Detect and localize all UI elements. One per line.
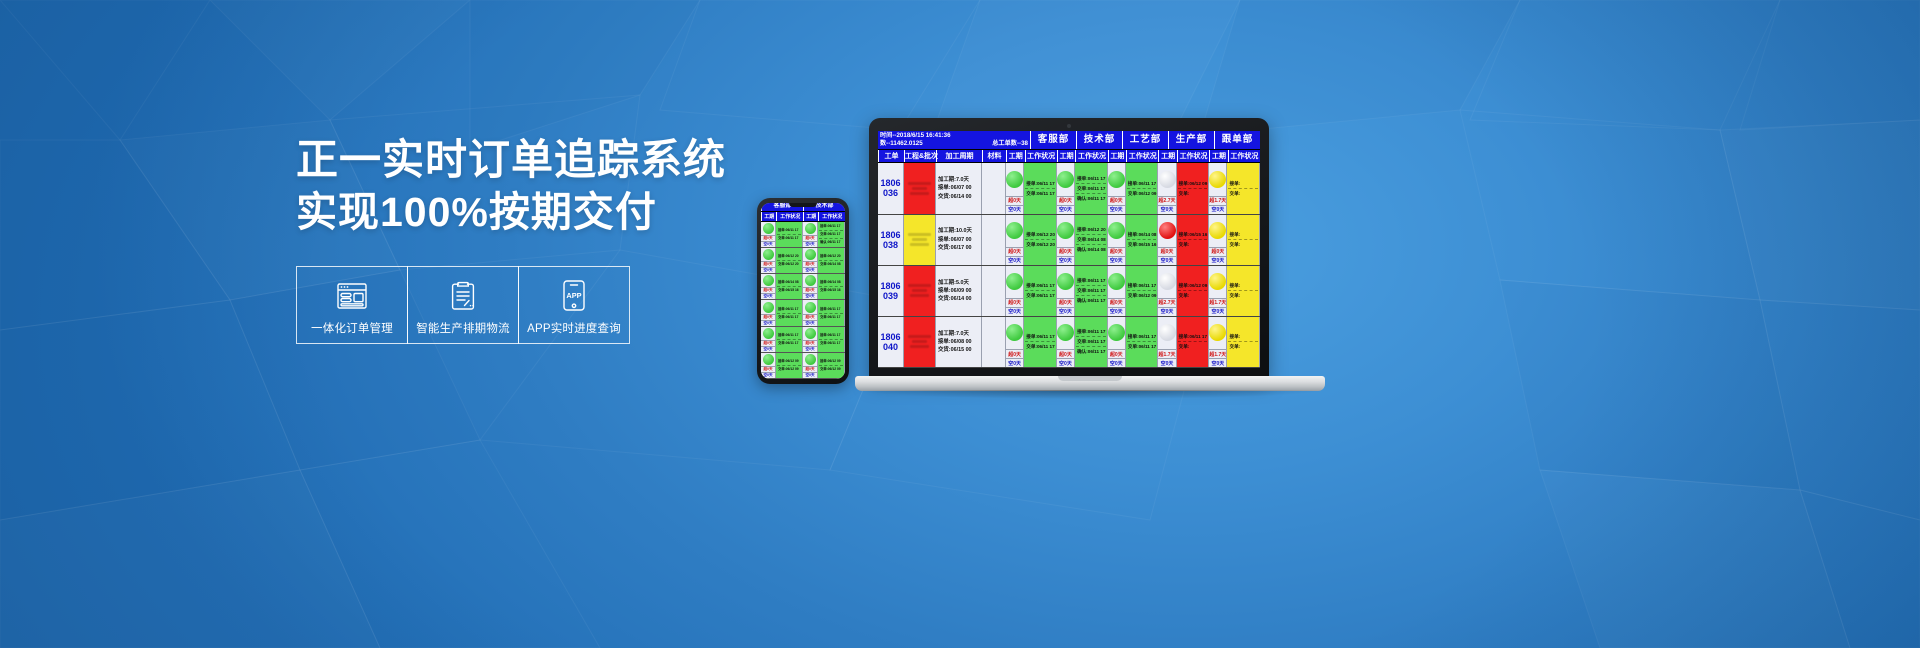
- blurred-text-bar: [912, 238, 927, 241]
- erp-status-line: 接单:06/12 20: [819, 253, 843, 261]
- status-indicator-wrap: [1006, 163, 1023, 195]
- erp-status-line: 接单:06/11 17: [1127, 179, 1157, 189]
- over-days-tag: 超0天: [1108, 298, 1125, 307]
- erp-dept-cell[interactable]: 超0天空0天接单:06/11 17交单:06/12 09: [1108, 266, 1159, 316]
- over-days-tag: 超0天: [1006, 247, 1023, 256]
- status-dot-green: [763, 354, 774, 365]
- erp-term-cell: 超0天空0天: [1108, 266, 1126, 316]
- blurred-text-bar: [912, 340, 927, 343]
- status-dot-green: [805, 223, 816, 234]
- erp-table-row[interactable]: 1806038加工期:10.0天接单:06/07 00交货:06/17 00超0…: [878, 215, 1260, 266]
- work-order-number: 036: [883, 188, 898, 198]
- erp-status-cell: 接单:06/11 17交单:06/11 17: [818, 327, 845, 352]
- erp-col-header: 加工周期: [936, 150, 982, 162]
- erp-status-line: 交单:: [1178, 240, 1208, 249]
- phone-erp-table-row[interactable]: 超0天空0天接单:06/12 20交单:06/12 20超0天空0天接单:06/…: [761, 248, 845, 274]
- over-days-tag: 超0天: [1108, 247, 1125, 256]
- erp-status-line: 确认:06/14 08: [1076, 245, 1106, 254]
- blurred-text-bar: [908, 335, 931, 338]
- erp-table-row[interactable]: 1806039加工期:5.0天接单:06/09 00交货:06/14 00超0天…: [878, 266, 1260, 317]
- idle-days-tag: 空0天: [1006, 256, 1023, 265]
- erp-dept-cell[interactable]: 超0天空0天接单:06/11 17交单:06/11 17: [761, 222, 803, 247]
- over-days-tag: 超2.7天: [1158, 196, 1175, 205]
- erp-status-cell: 接单:06/11 17交单:06/12 09: [1126, 163, 1159, 213]
- status-indicator-wrap: [803, 248, 817, 261]
- status-indicator-wrap: [761, 274, 775, 287]
- status-indicator-wrap: [803, 353, 817, 366]
- blurred-text-bar: [908, 284, 931, 287]
- phone-erp-subheader: 工期工作状况工期工作状况: [761, 212, 845, 222]
- feature-item-order-management[interactable]: 一体化订单管理: [296, 266, 408, 344]
- status-indicator-wrap: [1209, 215, 1226, 247]
- erp-status-line: 交单:: [1228, 189, 1258, 198]
- erp-term-cell: 超2.7天空0天: [1158, 266, 1176, 316]
- status-indicator-wrap: [761, 222, 775, 235]
- erp-term-cell: 超0天空0天: [1108, 317, 1126, 367]
- status-dot-green: [805, 328, 816, 339]
- erp-status-line: 接单:: [1228, 179, 1258, 189]
- erp-dept-cell[interactable]: 超0天空0天接单:06/15 16交单:: [1158, 215, 1209, 265]
- erp-status-line: 交单:: [1178, 189, 1208, 198]
- idle-days-tag: 空0天: [1006, 205, 1023, 214]
- idle-days-tag: 空0天: [803, 320, 817, 326]
- erp-term-cell: 超0天空0天: [761, 274, 776, 299]
- status-dot-green: [1006, 273, 1023, 290]
- erp-status-cell: 接单:06/11 17交单:06/11 17: [1024, 317, 1057, 367]
- erp-dept-cell[interactable]: 超0天空0天接单:06/12 09交单:06/12 09: [761, 353, 803, 378]
- erp-status-line: 接单:06/11 17: [1076, 276, 1106, 286]
- project-batch-cell: [904, 163, 936, 213]
- status-dot-green: [1108, 222, 1125, 239]
- status-dot-green: [1006, 324, 1023, 341]
- phone-erp-table-row[interactable]: 超0天空0天接单:06/12 09交单:06/12 09超0天空0天接单:06/…: [761, 353, 845, 379]
- status-indicator-wrap: [1158, 163, 1175, 195]
- erp-data-rows: 1806036加工期:7.0天接单:06/07 00交货:06/14 00超0天…: [878, 163, 1260, 368]
- status-indicator-wrap: [761, 327, 775, 340]
- erp-status-line: 交单:06/11 17: [777, 235, 801, 242]
- erp-dept-cell[interactable]: 超0天空0天接单:06/11 17交单:06/11 17确认:06/11 17: [1057, 266, 1108, 316]
- erp-term-cell: 超0天空0天: [803, 274, 818, 299]
- cycle-line: 加工期:7.0天: [938, 330, 981, 338]
- work-order-number: 038: [883, 240, 898, 250]
- idle-days-tag: 空0天: [1108, 307, 1125, 316]
- laptop-screen: 时间--2018/6/15 16:41:36 数--11462.0125 总工单…: [878, 131, 1260, 368]
- erp-term-cell: 超0天空0天: [803, 353, 818, 378]
- erp-dept-header: 客服部: [1030, 131, 1076, 149]
- idle-days-tag: 空0天: [1158, 205, 1175, 214]
- erp-status-cell: 接单:06/12 09交单:06/12 09: [818, 353, 845, 378]
- status-indicator-wrap: [761, 248, 775, 261]
- status-dot-green: [1057, 273, 1074, 290]
- status-indicator-wrap: [1158, 215, 1175, 247]
- cycle-line: 加工期:10.0天: [938, 227, 981, 235]
- erp-status-line: 接单:06/11 17: [819, 306, 843, 314]
- idle-days-tag: 空0天: [1108, 358, 1125, 367]
- status-dot-yellow: [1209, 324, 1226, 341]
- erp-status-line: 交单:06/11 17: [1025, 291, 1055, 300]
- erp-col-header: 工程&批次: [904, 150, 936, 162]
- processing-cycle-cell: 加工期:7.0天接单:06/08 00交货:06/15 00: [936, 317, 982, 367]
- status-dot-green: [1108, 324, 1125, 341]
- erp-dept-cell[interactable]: 超0天空0天接单:06/11 17交单:06/11 17: [1006, 163, 1057, 213]
- erp-status-line: 交单:06/12 09: [777, 366, 801, 373]
- erp-status-cell: 接单:06/11 17交单:06/11 17: [776, 300, 803, 325]
- blurred-text-bar: [910, 243, 929, 246]
- status-dot-green: [763, 275, 774, 286]
- erp-status-line: 交单:06/11 17: [1025, 189, 1055, 198]
- erp-status-cell: 接单:06/12 20交单:06/12 20: [1024, 215, 1057, 265]
- idle-days-tag: 空0天: [1057, 307, 1074, 316]
- erp-dept-cell[interactable]: 超0天空0天接单:06/11 17交单:06/11 17: [803, 327, 845, 352]
- cycle-line: 加工期:5.0天: [938, 279, 981, 287]
- project-batch-cell: [904, 317, 936, 367]
- erp-status-cell: 接单:06/11 17交单:06/11 17: [818, 300, 845, 325]
- over-days-tag: 超2.7天: [1158, 298, 1175, 307]
- erp-dept-cell[interactable]: 超0天空0天接单:06/11 17交单:06/11 17: [803, 300, 845, 325]
- work-order-cell: 1806036: [878, 163, 904, 213]
- erp-status-cell: 接单:06/11 17交单:06/11 17: [776, 327, 803, 352]
- idle-days-tag: 空0天: [1006, 307, 1023, 316]
- status-indicator-wrap: [1006, 266, 1023, 298]
- erp-dept-cell[interactable]: 超2.7天空0天接单:06/12 09交单:: [1158, 163, 1209, 213]
- window-list-icon: [337, 279, 367, 313]
- erp-status-cell: 接单:06/11 17交单:06/11 17确认:06/11 17: [818, 222, 845, 247]
- erp-status-line: 接单:06/11 17: [777, 227, 801, 235]
- cycle-line: 交货:06/14 00: [938, 295, 981, 303]
- erp-term-cell: 超0天空0天: [1057, 266, 1075, 316]
- status-indicator-wrap: [761, 300, 775, 313]
- phone-erp-table-row[interactable]: 超0天空0天接单:06/11 17交单:06/11 17超0天空0天接单:06/…: [761, 327, 845, 353]
- material-cell: [982, 317, 1006, 367]
- idle-days-tag: 空0天: [1057, 358, 1074, 367]
- erp-dept-cell[interactable]: 超0天空0天接单:06/11 17交单:06/11 17: [761, 327, 803, 352]
- idle-days-tag: 空0天: [761, 293, 775, 299]
- work-order-cell: 1806038: [878, 215, 904, 265]
- erp-status-line: 接单:06/12 20: [777, 253, 801, 261]
- idle-days-tag: 空0天: [1006, 358, 1023, 367]
- laptop-shadow: [859, 390, 1321, 399]
- status-dot-green: [763, 223, 774, 234]
- erp-status-line: 交单:: [1178, 291, 1208, 300]
- erp-total-orders-label: 总工单数--38: [992, 140, 1028, 148]
- status-dot-green: [763, 302, 774, 313]
- status-indicator-wrap: [1108, 266, 1125, 298]
- erp-dept-cell[interactable]: 超0天空0天接单:06/11 17交单:06/11 17: [1006, 317, 1057, 367]
- blurred-text-bar: [910, 345, 929, 348]
- erp-term-cell: 超1.7天空0天: [1209, 317, 1227, 367]
- idle-days-tag: 空0天: [803, 372, 817, 378]
- status-dot-white: [1159, 324, 1176, 341]
- erp-board: 时间--2018/6/15 16:41:36 数--11462.0125 总工单…: [878, 131, 1260, 368]
- idle-days-tag: 空0天: [1108, 205, 1125, 214]
- erp-dept-cell[interactable]: 超1.7天空0天接单:交单:: [1209, 163, 1260, 213]
- erp-status-cell: 接单:06/14 08交单:06/15 16: [1126, 215, 1159, 265]
- phone-erp-rows: 超0天空0天接单:06/11 17交单:06/11 17超0天空0天接单:06/…: [761, 222, 845, 379]
- status-indicator-wrap: [761, 353, 775, 366]
- idle-days-tag: 空0天: [803, 267, 817, 273]
- processing-cycle-cell: 加工期:5.0天接单:06/09 00交货:06/14 00: [936, 266, 982, 316]
- status-dot-white: [1159, 171, 1176, 188]
- work-order-number: 039: [883, 291, 898, 301]
- idle-days-tag: 空0天: [803, 346, 817, 352]
- erp-term-cell: 超0天空0天: [761, 300, 776, 325]
- erp-status-cell: 接单:06/15 16交单:: [1177, 215, 1210, 265]
- erp-term-cell: 超0天空0天: [761, 353, 776, 378]
- erp-status-line: 接单:06/12 09: [1178, 179, 1208, 189]
- erp-term-cell: 超0天空0天: [803, 222, 818, 247]
- erp-dept-cell[interactable]: 超0天空0天接单:06/12 09交单:06/12 09: [803, 353, 845, 378]
- erp-term-cell: 超1.7天空0天: [1209, 163, 1227, 213]
- erp-table-row[interactable]: 1806040加工期:7.0天接单:06/08 00交货:06/15 00超0天…: [878, 317, 1260, 368]
- erp-status-cell: 接单:交单:: [1227, 163, 1260, 213]
- erp-status-line: 交单:06/11 17: [777, 314, 801, 321]
- erp-status-line: 交单:06/11 17: [1127, 342, 1157, 351]
- status-indicator-wrap: [803, 300, 817, 313]
- laptop-mockup: 时间--2018/6/15 16:41:36 数--11462.0125 总工单…: [855, 118, 1325, 418]
- erp-dept-cell[interactable]: 超1.7天空0天接单:交单:: [1209, 317, 1260, 367]
- over-days-tag: 超1.7天: [1209, 298, 1226, 307]
- phone-erp-table-row[interactable]: 超0天空0天接单:06/14 08交单:06/15 16超0天空0天接单:06/…: [761, 274, 845, 300]
- erp-table-row[interactable]: 1806036加工期:7.0天接单:06/07 00交货:06/14 00超0天…: [878, 163, 1260, 214]
- status-indicator-wrap: [803, 327, 817, 340]
- cycle-line: 交货:06/14 00: [938, 193, 981, 201]
- idle-days-tag: 空0天: [803, 293, 817, 299]
- erp-status-cell: 接单:06/11 17交单:: [1177, 317, 1210, 367]
- idle-days-tag: 空0天: [1057, 256, 1074, 265]
- erp-term-cell: 超0天空0天: [1006, 163, 1024, 213]
- erp-dept-cell[interactable]: 超0天空0天接单:06/11 17交单:06/11 17: [1108, 317, 1159, 367]
- erp-dept-cell[interactable]: 超0天空0天接单:06/11 17交单:06/11 17: [761, 300, 803, 325]
- over-days-tag: 超0天: [1006, 298, 1023, 307]
- over-days-tag: 超1.7天: [1209, 349, 1226, 358]
- erp-dept-cell[interactable]: 超0天空0天接单:06/12 20交单:06/14 08: [803, 248, 845, 273]
- erp-col-header: 工作状况: [1228, 150, 1260, 162]
- status-indicator-wrap: [1158, 317, 1175, 349]
- status-dot-green: [763, 328, 774, 339]
- erp-term-cell: 超1.7天空0天: [1209, 266, 1227, 316]
- erp-dept-cell[interactable]: 超0天空0天接单:交单:: [1209, 215, 1260, 265]
- erp-status-line: 接单:06/11 17: [1025, 281, 1055, 291]
- erp-dept-cell[interactable]: 超0天空0天接单:06/14 08交单:06/15 16: [803, 274, 845, 299]
- erp-status-line: 交单:06/11 17: [777, 340, 801, 347]
- erp-status-cell: 接单:06/11 17交单:06/12 09: [1126, 266, 1159, 316]
- erp-dept-cell[interactable]: 超0天空0天接单:06/12 20交单:06/12 20: [761, 248, 803, 273]
- erp-dept-header: 工艺部: [1122, 131, 1168, 149]
- erp-status-cell: 接单:06/14 08交单:06/15 16: [818, 274, 845, 299]
- erp-col-header: 工期: [1108, 150, 1127, 162]
- erp-status-line: 交单:: [1228, 240, 1258, 249]
- status-indicator-wrap: [1057, 215, 1074, 247]
- erp-term-cell: 超0天空0天: [1108, 215, 1126, 265]
- erp-status-cell: 接单:06/12 09交单:: [1177, 266, 1210, 316]
- erp-dept-header: 生产部: [1168, 131, 1214, 149]
- idle-days-tag: 空0天: [761, 372, 775, 378]
- erp-status-line: 交单:06/15 16: [1127, 240, 1157, 249]
- work-order-number: 1806: [880, 332, 900, 342]
- erp-term-cell: 超0天空0天: [803, 248, 818, 273]
- erp-term-cell: 超0天空0天: [1108, 163, 1126, 213]
- erp-status-line: 接单:06/11 17: [819, 223, 843, 231]
- status-indicator-wrap: [1209, 266, 1226, 298]
- cycle-line: 接单:06/08 00: [938, 338, 981, 346]
- phone-erp-table-row[interactable]: 超0天空0天接单:06/11 17交单:06/11 17超0天空0天接单:06/…: [761, 300, 845, 326]
- erp-term-cell: 超0天空0天: [1057, 163, 1075, 213]
- erp-status-line: 交单:06/14 08: [1076, 235, 1106, 245]
- erp-col-header: 工期: [1209, 150, 1228, 162]
- cycle-line: 交货:06/17 00: [938, 244, 981, 252]
- idle-days-tag: 空0天: [1057, 205, 1074, 214]
- erp-status-cell: 接单:06/14 08交单:06/15 16: [776, 274, 803, 299]
- status-indicator-wrap: [1006, 317, 1023, 349]
- erp-status-line: 接单:06/11 17: [1127, 332, 1157, 342]
- mobile-app-icon: APP: [563, 279, 585, 313]
- erp-status-line: 接单:06/11 17: [777, 332, 801, 340]
- erp-col-header: 材料: [982, 150, 1006, 162]
- erp-status-line: 接单:06/12 20: [1025, 230, 1055, 240]
- status-dot-green: [763, 249, 774, 260]
- erp-term-cell: 超0天空0天: [761, 327, 776, 352]
- status-dot-yellow: [1209, 222, 1226, 239]
- over-days-tag: 超0天: [1108, 349, 1125, 358]
- phone-erp-table-row[interactable]: 超0天空0天接单:06/11 17交单:06/11 17超0天空0天接单:06/…: [761, 222, 845, 248]
- status-indicator-wrap: [1209, 163, 1226, 195]
- status-dot-green: [1006, 222, 1023, 239]
- erp-term-cell: 超2.7天空0天: [1158, 163, 1176, 213]
- erp-status-cell: 接单:06/11 17交单:06/11 17确认:06/11 17: [1075, 266, 1108, 316]
- status-indicator-wrap: [1209, 317, 1226, 349]
- idle-days-tag: 空0天: [1158, 358, 1175, 367]
- status-dot-green: [1108, 273, 1125, 290]
- erp-col-header: 工作状况: [1126, 150, 1158, 162]
- status-dot-green: [1108, 171, 1125, 188]
- over-days-tag: 超0天: [1209, 247, 1226, 256]
- status-dot-green: [1006, 171, 1023, 188]
- cycle-line: 交货:06/15 00: [938, 346, 981, 354]
- erp-term-cell: 超0天空0天: [803, 327, 818, 352]
- erp-dept-cell[interactable]: 超2.7天空0天接单:06/12 09交单:: [1158, 266, 1209, 316]
- idle-days-tag: 空0天: [1209, 256, 1226, 265]
- phone-erp-board: 客服部技术部 工期工作状况工期工作状况 超0天空0天接单:06/11 17交单:…: [761, 203, 845, 379]
- work-order-cell: 1806039: [878, 266, 904, 316]
- erp-status-line: 交单:06/12 09: [819, 366, 843, 373]
- erp-col-header: 工作状况: [818, 212, 845, 221]
- over-days-tag: 超0天: [1057, 298, 1074, 307]
- erp-term-cell: 超0天空0天: [1006, 266, 1024, 316]
- over-days-tag: 超0天: [1057, 247, 1074, 256]
- erp-status-cell: 接单:06/11 17交单:06/11 17确认:06/11 17: [1075, 317, 1108, 367]
- erp-status-line: 接单:: [1228, 332, 1258, 342]
- erp-status-line: 交单:: [1228, 291, 1258, 300]
- blurred-text-bar: [910, 192, 929, 195]
- erp-meta: 时间--2018/6/15 16:41:36 数--11462.0125 总工单…: [878, 131, 1030, 149]
- erp-dept-cell[interactable]: 超0天空0天接单:06/12 20交单:06/12 20: [1006, 215, 1057, 265]
- erp-status-line: 接单:: [1228, 281, 1258, 291]
- erp-status-line: 确认:06/11 17: [1076, 296, 1106, 305]
- over-days-tag: 超0天: [1006, 349, 1023, 358]
- erp-status-cell: 接单:06/11 17交单:06/11 17确认:06/11 17: [1075, 163, 1108, 213]
- work-order-number: 1806: [880, 178, 900, 188]
- erp-term-cell: 超0天空0天: [1209, 215, 1227, 265]
- erp-dept-cell[interactable]: 超0天空0天接单:06/14 08交单:06/15 16: [1108, 215, 1159, 265]
- erp-status-line: 接单:06/11 17: [777, 306, 801, 314]
- headline-line-1: 正一实时订单追踪系统: [296, 134, 856, 186]
- erp-dept-cell[interactable]: 超0天空0天接单:06/11 17交单:06/11 17确认:06/11 17: [803, 222, 845, 247]
- over-days-tag: 超1.7天: [1158, 349, 1175, 358]
- work-order-number: 1806: [880, 230, 900, 240]
- project-batch-cell: [904, 215, 936, 265]
- erp-status-line: 接单:06/11 17: [1076, 174, 1106, 184]
- material-cell: [982, 215, 1006, 265]
- erp-col-header: 工作状况: [1025, 150, 1057, 162]
- erp-status-line: 接单:06/11 17: [1178, 332, 1208, 342]
- work-order-cell: 1806040: [878, 317, 904, 367]
- status-indicator-wrap: [1108, 163, 1125, 195]
- webcam-icon: [1067, 124, 1071, 128]
- erp-col-header: 工期: [1006, 150, 1025, 162]
- erp-dept-cell[interactable]: 超1.7天空0天接单:06/11 17交单:: [1158, 317, 1209, 367]
- erp-status-line: 接单:06/12 09: [1178, 281, 1208, 291]
- over-days-tag: 超0天: [1057, 196, 1074, 205]
- erp-term-cell: 超0天空0天: [761, 222, 776, 247]
- erp-dept-cell[interactable]: 超0天空0天接单:06/14 08交单:06/15 16: [761, 274, 803, 299]
- phone-mockup: 客服部技术部 工期工作状况工期工作状况 超0天空0天接单:06/11 17交单:…: [757, 198, 849, 384]
- erp-dept-cell[interactable]: 超1.7天空0天接单:交单:: [1209, 266, 1260, 316]
- cycle-line: 接单:06/09 00: [938, 287, 981, 295]
- erp-status-line: 交单:06/12 20: [777, 261, 801, 268]
- erp-term-cell: 超1.7天空0天: [1158, 317, 1176, 367]
- erp-status-line: 接单:06/11 17: [1127, 281, 1157, 291]
- erp-dept-cell[interactable]: 超0天空0天接单:06/11 17交单:06/11 17确认:06/11 17: [1057, 317, 1108, 367]
- idle-days-tag: 空0天: [761, 267, 775, 273]
- erp-dept-cell[interactable]: 超0天空0天接单:06/11 17交单:06/12 09: [1108, 163, 1159, 213]
- erp-status-cell: 接单:06/11 17交单:06/11 17: [1024, 266, 1057, 316]
- erp-count-label: 数--11462.0125: [880, 140, 923, 148]
- erp-term-cell: 超0天空0天: [1006, 215, 1024, 265]
- erp-dept-cell[interactable]: 超0天空0天接单:06/11 17交单:06/11 17: [1006, 266, 1057, 316]
- erp-status-cell: 接单:06/12 20交单:06/12 20: [776, 248, 803, 273]
- feature-item-app-progress-query[interactable]: APP APP实时进度查询: [518, 266, 630, 344]
- idle-days-tag: 空0天: [761, 320, 775, 326]
- erp-dept-cell[interactable]: 超0天空0天接单:06/12 20交单:06/14 08确认:06/14 08: [1057, 215, 1108, 265]
- erp-status-line: 接单:06/12 09: [777, 358, 801, 366]
- status-dot-red: [1159, 222, 1176, 239]
- erp-status-line: 交单:06/12 09: [1127, 189, 1157, 198]
- erp-status-line: 交单:06/14 08: [819, 261, 843, 268]
- idle-days-tag: 空0天: [1108, 256, 1125, 265]
- status-dot-green: [805, 275, 816, 286]
- erp-status-cell: 接单:06/11 17交单:06/11 17: [776, 222, 803, 247]
- erp-status-line: 交单:06/11 17: [1076, 286, 1106, 296]
- idle-days-tag: 空0天: [1209, 205, 1226, 214]
- feature-label: 智能生产排期物流: [416, 320, 510, 336]
- status-dot-green: [805, 249, 816, 260]
- erp-status-line: 交单:06/11 17: [1076, 184, 1106, 194]
- erp-status-line: 接单:06/11 17: [1025, 179, 1055, 189]
- status-indicator-wrap: [803, 274, 817, 287]
- idle-days-tag: 空0天: [761, 241, 775, 247]
- erp-dept-cell[interactable]: 超0天空0天接单:06/11 17交单:06/11 17确认:06/11 17: [1057, 163, 1108, 213]
- material-cell: [982, 163, 1006, 213]
- laptop-base-notch: [1058, 376, 1122, 381]
- processing-cycle-cell: 加工期:10.0天接单:06/07 00交货:06/17 00: [936, 215, 982, 265]
- erp-col-header: 工作状况: [1075, 150, 1107, 162]
- feature-item-production-scheduling[interactable]: 智能生产排期物流: [407, 266, 519, 344]
- erp-col-header: 工作状况: [1177, 150, 1209, 162]
- erp-term-cell: 超0天空0天: [1057, 317, 1075, 367]
- status-dot-yellow: [1209, 273, 1226, 290]
- cycle-line: 接单:06/07 00: [938, 184, 981, 192]
- status-indicator-wrap: [1057, 163, 1074, 195]
